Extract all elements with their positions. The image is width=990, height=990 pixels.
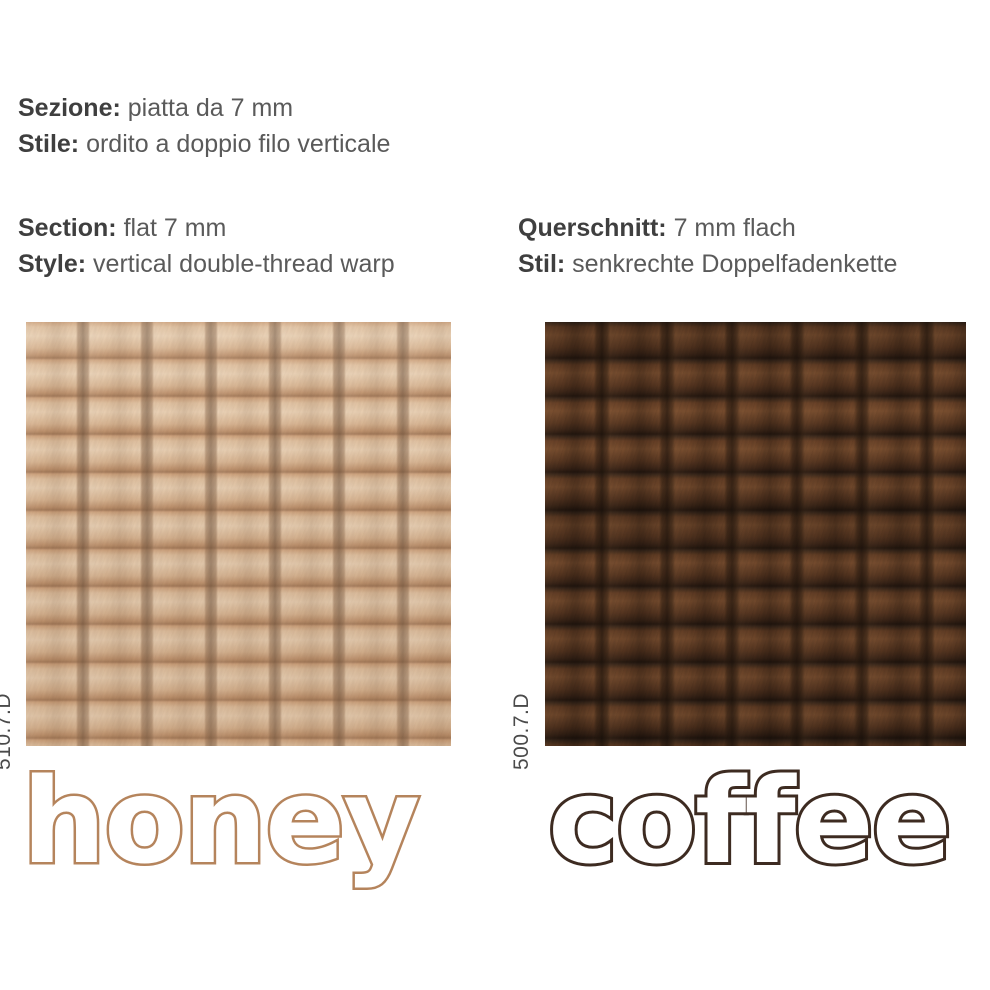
spec-line-style-german: Stil: senkrechte Doppelfadenkette	[518, 246, 897, 282]
spec-line-section-german: Querschnitt: 7 mm flach	[518, 210, 897, 246]
weave-sample-coffee[interactable]	[545, 322, 966, 746]
spec-key-section-german: Querschnitt:	[518, 214, 667, 242]
spec-value-section-german: 7 mm flach	[674, 214, 796, 242]
spec-value-section-italian: piatta da 7 mm	[128, 94, 293, 122]
weave-sample-honey[interactable]	[26, 322, 451, 746]
spec-key-section-english: Section:	[18, 214, 117, 242]
spec-line-section-italian: Sezione: piatta da 7 mm	[18, 90, 390, 126]
weave-texture-honey	[26, 322, 451, 746]
spec-key-style-german: Stil:	[518, 250, 565, 278]
spec-key-section-italian: Sezione:	[18, 94, 121, 122]
swatch-code-honey: 510.7.D	[0, 693, 16, 770]
spec-block-german: Querschnitt: 7 mm flach Stil: senkrechte…	[518, 210, 897, 282]
swatch-code-coffee: 500.7.D	[510, 693, 534, 770]
spec-value-style-italian: ordito a doppio filo verticale	[86, 130, 390, 158]
weave-shade-layer	[26, 322, 451, 746]
spec-value-section-english: flat 7 mm	[124, 214, 227, 242]
spec-key-style-italian: Stile:	[18, 130, 79, 158]
wordmark-coffee: coffee	[548, 762, 950, 880]
spec-line-style-italian: Stile: ordito a doppio filo verticale	[18, 126, 390, 162]
spec-block-english: Section: flat 7 mm Style: vertical doubl…	[18, 210, 395, 282]
weave-shade-layer	[545, 322, 966, 746]
spec-key-style-english: Style:	[18, 250, 86, 278]
spec-line-section-english: Section: flat 7 mm	[18, 210, 395, 246]
spec-block-italian: Sezione: piatta da 7 mm Stile: ordito a …	[18, 90, 390, 162]
spec-line-style-english: Style: vertical double-thread warp	[18, 246, 395, 282]
spec-value-style-english: vertical double-thread warp	[93, 250, 395, 278]
spec-value-style-german: senkrechte Doppelfadenkette	[572, 250, 897, 278]
weave-texture-coffee	[545, 322, 966, 746]
wordmark-honey: honey	[22, 762, 418, 880]
